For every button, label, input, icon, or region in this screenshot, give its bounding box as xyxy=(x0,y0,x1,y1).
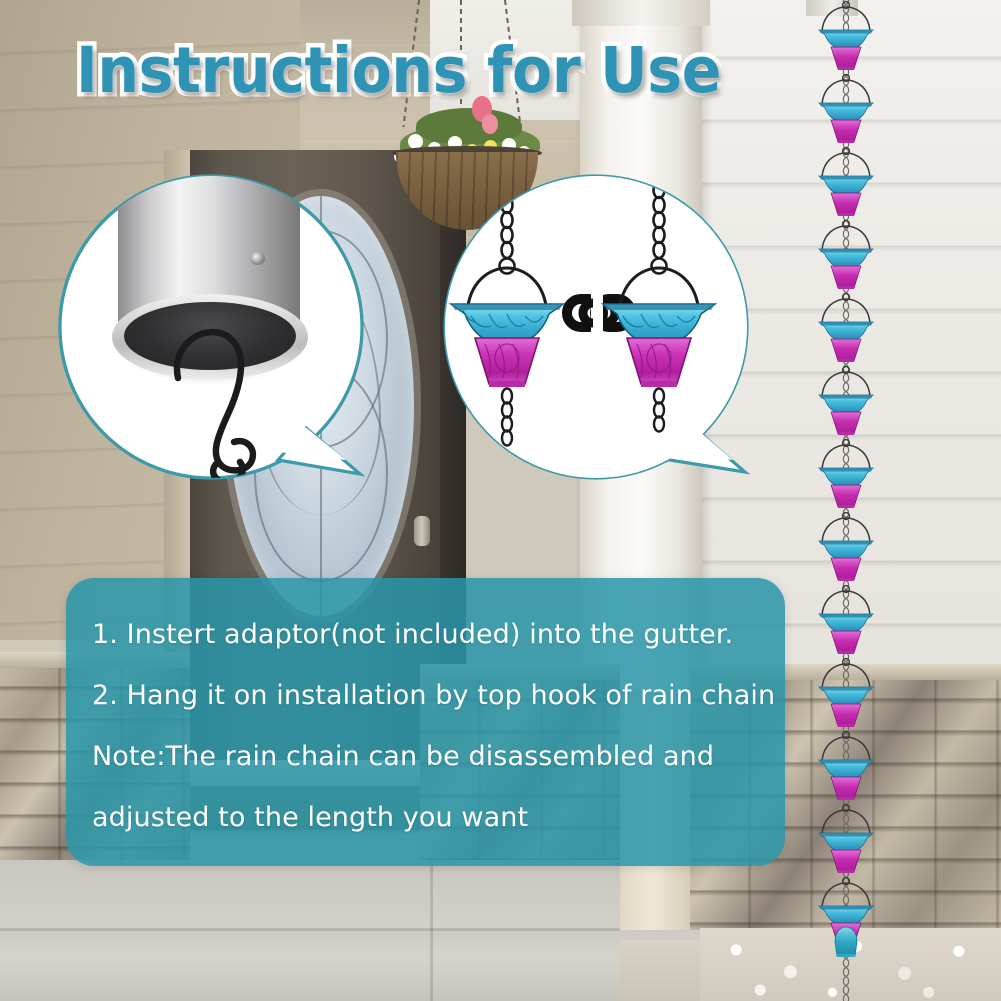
rain-chain-cup xyxy=(819,513,873,581)
instructions-text-block: 1. Instert adaptor(not included) into th… xyxy=(92,604,782,854)
porch-column-cap xyxy=(572,0,710,26)
downspout-photo xyxy=(60,176,362,478)
instruction-line-2: 2. Hang it on installation by top hook o… xyxy=(92,665,782,726)
rain-chain-cup xyxy=(819,659,873,727)
walkway-seam-h xyxy=(0,928,620,931)
rain-chain-cup xyxy=(819,367,873,435)
two-cups-diagram xyxy=(445,176,747,478)
gravel-edge xyxy=(620,940,710,1001)
instruction-note-line-1: Note:The rain chain can be disassembled … xyxy=(92,726,782,787)
instruction-note-line-2: adjusted to the length you want xyxy=(92,787,782,848)
rain-chain-cup xyxy=(819,440,873,508)
rain-chain-cup xyxy=(819,221,873,289)
infographic-stage: Instructions for Use xyxy=(0,0,1001,1001)
chain-bell-finial xyxy=(835,927,857,957)
door-handle xyxy=(414,516,430,546)
rain-chain-cup xyxy=(819,586,873,654)
cup-connection-callout xyxy=(441,172,771,502)
cup-connection-diagram xyxy=(445,176,747,478)
rain-chain-product xyxy=(790,0,910,1001)
right-cup xyxy=(603,182,715,432)
rain-chain-cup xyxy=(819,2,873,70)
instruction-line-1: 1. Instert adaptor(not included) into th… xyxy=(92,604,782,665)
mounting-screw xyxy=(250,252,265,265)
rain-chain-cup xyxy=(819,294,873,362)
downspout-s-hook-callout xyxy=(56,172,386,502)
s-hook-icon xyxy=(156,296,306,478)
page-title: Instructions for Use xyxy=(76,34,721,107)
basket-flower-pink xyxy=(482,114,498,134)
